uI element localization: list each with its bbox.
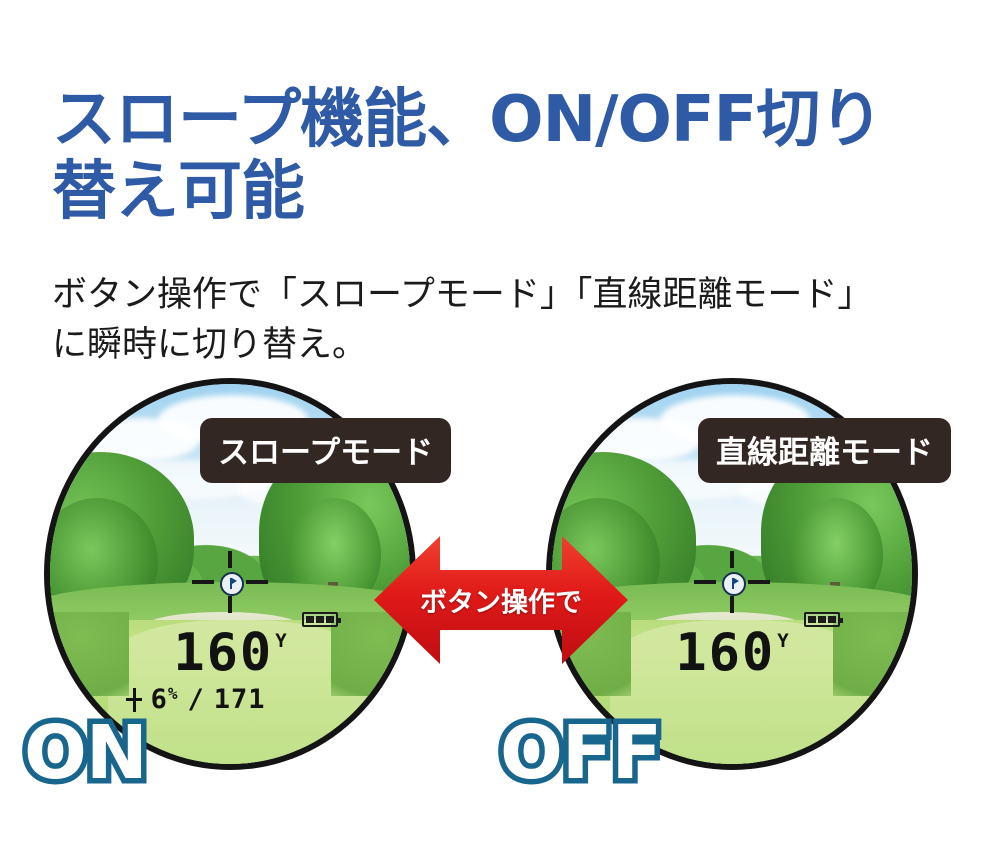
page-title: スロープ機能、ON/OFF切り 替え可能 — [52, 85, 952, 228]
state-label-on: ON — [24, 716, 147, 790]
rough-left — [44, 612, 129, 696]
switch-arrow: ボタン操作で — [374, 530, 628, 670]
rough-right — [833, 612, 918, 696]
page-subtitle: ボタン操作で「スロープモード」「直線距離モード」 に瞬時に切り替え。 — [52, 271, 972, 370]
state-label-off: OFF — [500, 716, 661, 790]
mode-badge-slope: スロープモード — [200, 418, 451, 483]
switch-arrow-label: ボタン操作で — [374, 581, 628, 620]
mode-badge-straight-distance: 直線距離モード — [698, 418, 951, 483]
promo-page: スロープ機能、ON/OFF切り 替え可能 ボタン操作で「スロープモード」「直線距… — [0, 0, 1000, 850]
